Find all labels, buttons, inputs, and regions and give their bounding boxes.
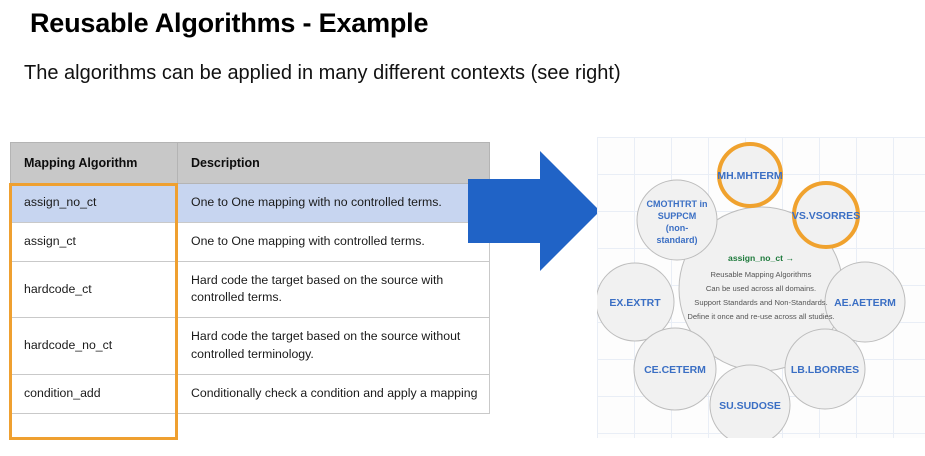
diagram-node-cmothtrt[interactable]: CMOTHTRT in SUPPCM (non- standard)	[637, 180, 717, 260]
diagram-node-su-sudose[interactable]: SU.SUDOSE	[710, 365, 790, 438]
table-row[interactable]: assign_no_ctOne to One mapping with no c…	[11, 184, 490, 223]
diagram-node-lb-lborres-label: LB.LBORRES	[791, 364, 859, 376]
cell-description: One to One mapping with controlled terms…	[178, 222, 490, 261]
diagram-node-su-sudose-label: SU.SUDOSE	[719, 400, 781, 412]
diagram-node-ae-aeterm-label: AE.AETERM	[834, 297, 896, 309]
page-subtitle: The algorithms can be applied in many di…	[24, 62, 621, 85]
diagram-center-line-4: Define it once and re-use across all stu…	[687, 312, 834, 321]
mapping-algorithm-table: Mapping Algorithm Description assign_no_…	[10, 142, 490, 414]
table-body: assign_no_ctOne to One mapping with no c…	[11, 184, 490, 414]
cell-algorithm: assign_ct	[11, 222, 178, 261]
diagram-center-line-1: Reusable Mapping Algorithms	[711, 270, 812, 279]
cell-description: Hard code the target based on the source…	[178, 318, 490, 375]
cell-description: Hard code the target based on the source…	[178, 261, 490, 318]
diagram-node-ae-aeterm[interactable]: AE.AETERM	[825, 262, 905, 342]
table-header-row: Mapping Algorithm Description	[11, 143, 490, 184]
cell-description: Conditionally check a condition and appl…	[178, 374, 490, 413]
reusable-algorithm-diagram: CMOTHTRT in SUPPCM (non- standard) MH.MH…	[597, 137, 925, 438]
diagram-node-cmothtrt-line1: CMOTHTRT in	[647, 199, 708, 209]
table-row[interactable]: hardcode_ctHard code the target based on…	[11, 261, 490, 318]
page-title: Reusable Algorithms - Example	[30, 8, 428, 39]
diagram-node-mh-mhterm[interactable]: MH.MHTERM	[717, 144, 783, 206]
diagram-node-ex-extrt-label: EX.EXTRT	[609, 297, 661, 309]
diagram-node-mh-mhterm-label: MH.MHTERM	[717, 170, 783, 182]
table-row[interactable]: assign_ctOne to One mapping with control…	[11, 222, 490, 261]
cell-algorithm: hardcode_ct	[11, 261, 178, 318]
table-row[interactable]: condition_addConditionally check a condi…	[11, 374, 490, 413]
diagram-node-vs-vsorres-label: VS.VSORRES	[792, 210, 860, 222]
diagram-node-ce-ceterm-label: CE.CETERM	[644, 364, 706, 376]
diagram-node-cmothtrt-line3: (non-	[666, 223, 689, 233]
diagram-node-vs-vsorres[interactable]: VS.VSORRES	[792, 183, 860, 247]
column-header-algorithm: Mapping Algorithm	[11, 143, 178, 184]
diagram-center-line-3: Support Standards and Non-Standards.	[694, 298, 827, 307]
diagram-node-ex-extrt[interactable]: EX.EXTRT	[597, 263, 674, 341]
diagram-node-lb-lborres[interactable]: LB.LBORRES	[785, 329, 865, 409]
cell-algorithm: hardcode_no_ct	[11, 318, 178, 375]
diagram-node-cmothtrt-line2: SUPPCM	[658, 211, 697, 221]
column-header-description: Description	[178, 143, 490, 184]
diagram-node-cmothtrt-line4: standard)	[656, 235, 697, 245]
diagram-center-line-2: Can be used across all domains.	[706, 284, 816, 293]
mapping-algorithm-table-container: Mapping Algorithm Description assign_no_…	[10, 142, 489, 414]
blue-right-arrow-icon	[468, 151, 600, 271]
cell-description: One to One mapping with no controlled te…	[178, 184, 490, 223]
diagram-node-ce-ceterm[interactable]: CE.CETERM	[634, 328, 716, 410]
cell-algorithm: condition_add	[11, 374, 178, 413]
diagram-center-heading: assign_no_ct →	[728, 253, 794, 263]
table-row[interactable]: hardcode_no_ctHard code the target based…	[11, 318, 490, 375]
cell-algorithm: assign_no_ct	[11, 184, 178, 223]
